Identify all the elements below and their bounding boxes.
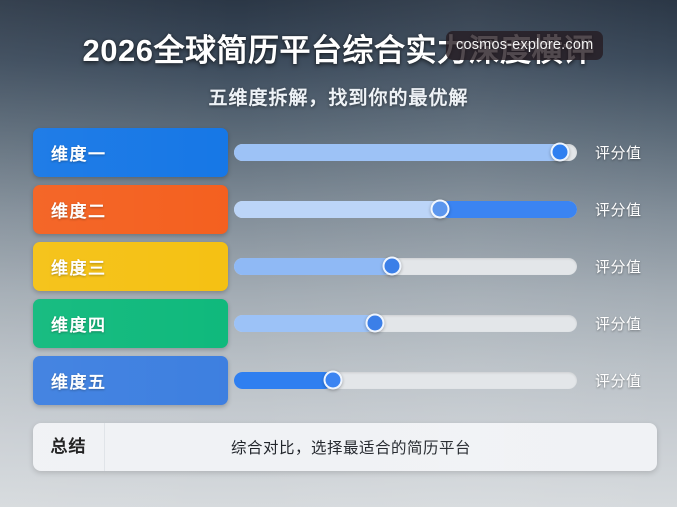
summary-label: 总结 — [33, 423, 105, 471]
summary-section: 总结 综合对比，选择最适合的简历平台 — [0, 413, 677, 471]
slider-track[interactable] — [234, 258, 577, 275]
slider-thumb[interactable] — [324, 371, 343, 390]
slider-wrapper — [228, 356, 587, 405]
slider-fill — [234, 372, 333, 389]
header: 2026全球简历平台综合实力深度横评 五维度拆解，找到你的最优解 cosmos-… — [0, 0, 677, 110]
score-value-label: 评分值 — [595, 370, 657, 391]
score-value-label: 评分值 — [595, 256, 657, 277]
summary-bar: 总结 综合对比，选择最适合的简历平台 — [33, 423, 657, 471]
slider-wrapper — [228, 242, 587, 291]
dimension-row: 维度四评分值 — [33, 299, 657, 348]
score-value-label: 评分值 — [595, 313, 657, 334]
slider-fill — [234, 258, 392, 275]
slider-fill — [234, 201, 440, 218]
dimension-row: 维度一评分值 — [33, 128, 657, 177]
slider-fill — [234, 144, 560, 161]
dimension-label: 维度二 — [51, 197, 107, 222]
dimension-label: 维度四 — [51, 311, 107, 336]
dimension-card-3[interactable]: 维度三 — [33, 242, 228, 291]
dimension-label: 维度一 — [51, 140, 107, 165]
dimension-row: 维度二评分值 — [33, 185, 657, 234]
slider-track[interactable] — [234, 144, 577, 161]
dimension-card-4[interactable]: 维度四 — [33, 299, 228, 348]
slider-thumb[interactable] — [550, 143, 569, 162]
slider-tail-fill — [440, 201, 577, 218]
dimension-row: 维度五评分值 — [33, 356, 657, 405]
summary-text: 综合对比，选择最适合的简历平台 — [105, 436, 657, 458]
dimension-card-5[interactable]: 维度五 — [33, 356, 228, 405]
slider-wrapper — [228, 185, 587, 234]
score-value-label: 评分值 — [595, 142, 657, 163]
watermark-badge: cosmos-explore.com — [446, 31, 603, 60]
slider-wrapper — [228, 128, 587, 177]
slider-fill — [234, 315, 375, 332]
score-value-label: 评分值 — [595, 199, 657, 220]
dimension-card-1[interactable]: 维度一 — [33, 128, 228, 177]
page-subtitle: 五维度拆解，找到你的最优解 — [0, 83, 677, 110]
dimension-card-2[interactable]: 维度二 — [33, 185, 228, 234]
slider-thumb[interactable] — [382, 257, 401, 276]
slider-track[interactable] — [234, 315, 577, 332]
slider-wrapper — [228, 299, 587, 348]
dimension-label: 维度五 — [51, 368, 107, 393]
dimension-row: 维度三评分值 — [33, 242, 657, 291]
slider-track[interactable] — [234, 201, 577, 218]
slider-thumb[interactable] — [430, 200, 449, 219]
dimension-label: 维度三 — [51, 254, 107, 279]
slider-thumb[interactable] — [365, 314, 384, 333]
slider-track[interactable] — [234, 372, 577, 389]
dimension-rows: 维度一评分值维度二评分值维度三评分值维度四评分值维度五评分值 — [0, 128, 677, 405]
